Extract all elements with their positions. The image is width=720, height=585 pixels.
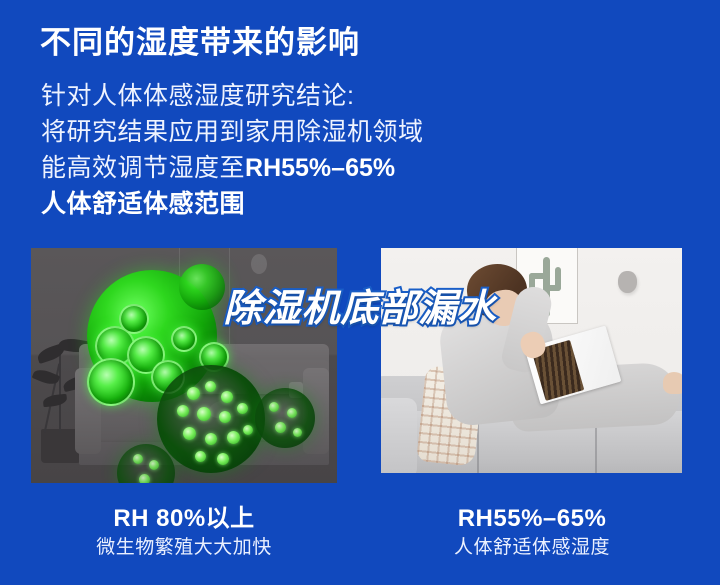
plant-leaf-icon — [42, 394, 67, 407]
virus-spike-icon — [217, 453, 229, 465]
caption-left-subtitle: 微生物繁殖大大加快 — [34, 534, 334, 562]
caption-left: RH 80%以上 微生物繁殖大大加快 — [34, 504, 334, 562]
caption-right: RH55%–65% 人体舒适体感湿度 — [382, 504, 682, 562]
poster-canvas: 不同的湿度带来的影响 针对人体体感湿度研究结论: 将研究结果应用到家用除湿机领域… — [0, 0, 720, 585]
intro-line-2: 将研究结果应用到家用除湿机领域 — [41, 114, 424, 150]
caption-right-title: RH55%–65% — [382, 504, 682, 534]
virus-spike-icon — [187, 387, 200, 400]
virus-spike-icon — [177, 405, 189, 417]
intro-line-4: 人体舒适体感范围 — [41, 186, 424, 222]
intro-line-3: 能高效调节湿度至RH55%–65% — [41, 150, 424, 186]
sofa-armrest — [381, 398, 417, 473]
humidity-range-value: RH55%–65% — [245, 154, 395, 182]
virus-spike-icon — [197, 407, 211, 421]
virus-spike-icon — [139, 474, 150, 483]
virus-spike-icon — [237, 403, 248, 414]
wall-knob-icon — [251, 254, 267, 274]
intro-line-1: 针对人体体感湿度研究结论: — [41, 78, 424, 114]
intro-line-3-text: 能高效调节湿度至 — [41, 154, 245, 182]
virus-spike-icon — [243, 425, 253, 435]
bacteria-cell-icon — [87, 358, 135, 406]
page-title: 不同的湿度带来的影响 — [40, 17, 360, 62]
virus-spike-icon — [205, 433, 217, 445]
virus-spike-icon — [221, 391, 233, 403]
virus-sphere-icon — [157, 365, 265, 473]
virus-spike-icon — [269, 402, 279, 412]
intro-text-block: 针对人体体感湿度研究结论: 将研究结果应用到家用除湿机领域 能高效调节湿度至RH… — [41, 78, 424, 222]
virus-spike-icon — [227, 431, 240, 444]
virus-spike-icon — [219, 411, 231, 423]
watermark-text: 除湿机底部漏水 — [0, 277, 720, 332]
virus-spike-icon — [287, 408, 297, 418]
person-foot — [663, 372, 682, 394]
virus-spike-icon — [205, 381, 216, 392]
caption-left-title: RH 80%以上 — [34, 504, 334, 534]
virus-spike-icon — [275, 422, 286, 433]
plant-stem-icon — [59, 347, 61, 433]
virus-sphere-icon — [255, 388, 315, 448]
virus-spike-icon — [133, 454, 143, 464]
virus-spike-icon — [183, 427, 196, 440]
virus-spike-icon — [293, 428, 302, 437]
virus-spike-icon — [149, 460, 159, 470]
virus-spike-icon — [195, 451, 206, 462]
caption-right-subtitle: 人体舒适体感湿度 — [382, 534, 682, 562]
